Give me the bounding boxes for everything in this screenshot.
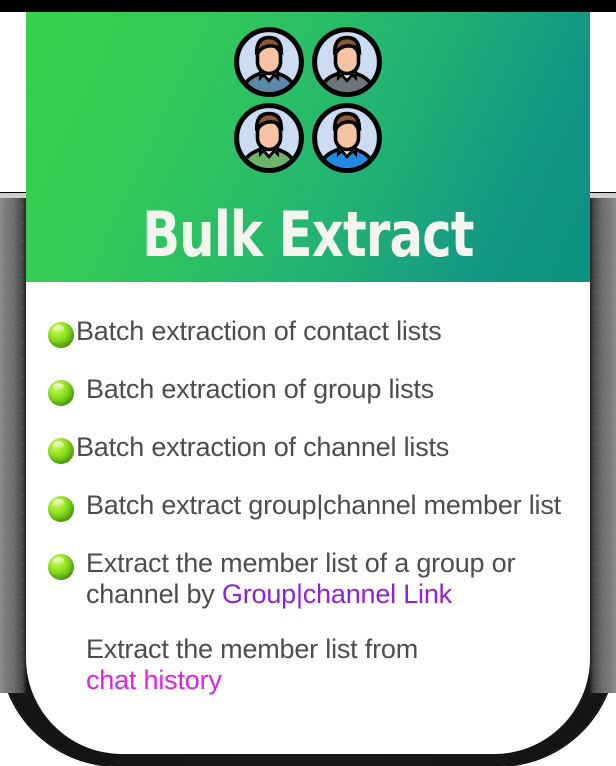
list-item: Extract the member list from chat histor… [48, 634, 576, 696]
list-item: Batch extraction of contact lists [48, 316, 576, 350]
frame-rail-texture-left [0, 198, 26, 690]
bullet-dot-icon [48, 322, 74, 348]
bullet-dot-icon [48, 496, 74, 522]
page-title: Bulk Extract [82, 204, 533, 266]
bullet-dot-icon [48, 438, 74, 464]
user-avatar-icon [233, 26, 305, 98]
user-avatar-icon [233, 102, 305, 174]
list-item: Batch extraction of group lists [48, 374, 576, 408]
list-item-label: Extract the member list from chat histor… [86, 634, 418, 696]
list-item-label: Batch extraction of contact lists [76, 316, 442, 347]
group-channel-link-highlight: Group|channel Link [222, 579, 452, 609]
list-item-label: Batch extraction of channel lists [76, 432, 449, 463]
list-item: Batch extract group|channel member list [48, 490, 576, 524]
bullet-dot-icon [48, 554, 74, 580]
user-avatar-icon [311, 102, 383, 174]
top-black-band [0, 0, 616, 12]
chat-history-highlight: chat history [86, 665, 222, 695]
user-avatar-icon [311, 26, 383, 98]
list-item-label: Batch extract group|channel member list [86, 490, 561, 521]
list-item: Batch extraction of channel lists [48, 432, 576, 466]
frame-rail-cap-left [0, 193, 26, 198]
card-header: Bulk Extract [26, 12, 590, 282]
avatar-group [218, 26, 398, 174]
list-item: Extract the member list of a group or ch… [48, 548, 576, 610]
frame-rail-texture-right [590, 198, 616, 690]
promo-card-stage: Bulk Extract Batch extraction of contact… [0, 0, 616, 766]
feature-list: Batch extraction of contact lists Batch … [26, 294, 590, 720]
list-item-label: Extract the member list of a group or ch… [86, 548, 576, 610]
list-item-label: Batch extraction of group lists [86, 374, 434, 405]
content-card: Bulk Extract Batch extraction of contact… [26, 12, 590, 754]
bullet-dot-icon [48, 380, 74, 406]
frame-rail-cap-right [590, 193, 616, 198]
